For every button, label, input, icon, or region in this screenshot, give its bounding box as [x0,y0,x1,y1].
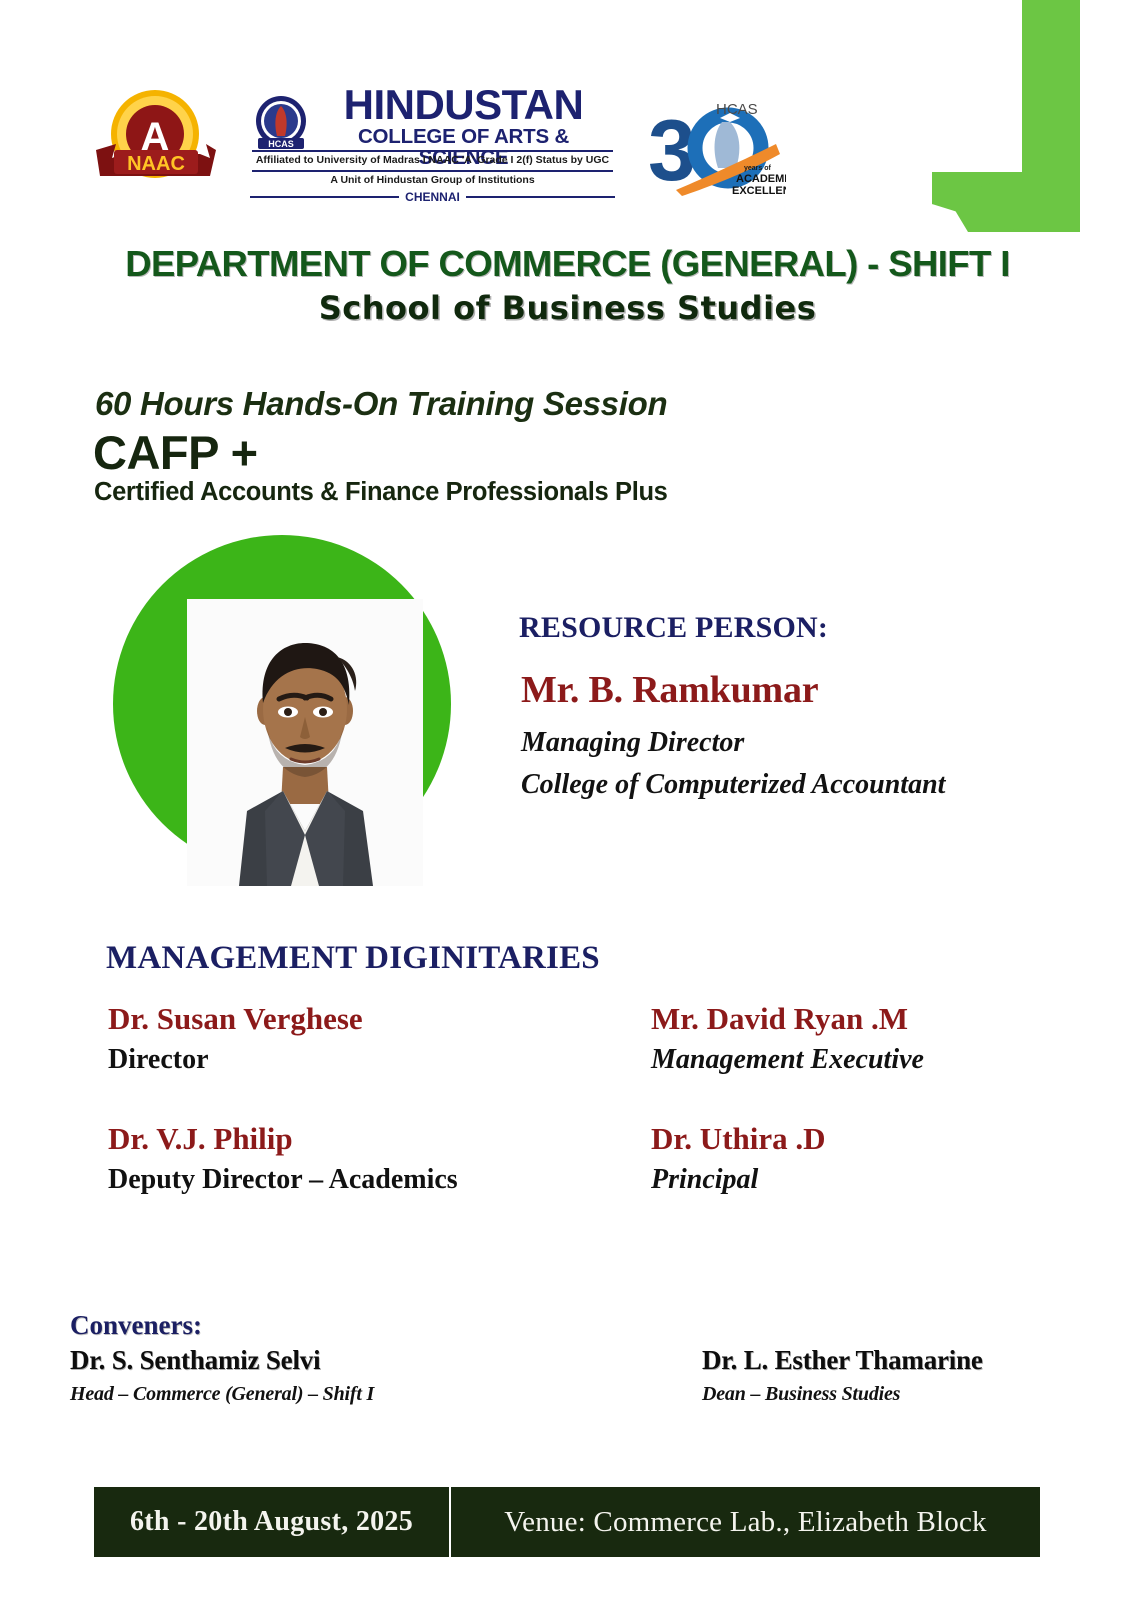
dignitary-name: Mr. David Ryan .M [651,1000,1091,1039]
svg-text:HCAS: HCAS [268,139,294,149]
dignitary-item: Mr. David Ryan .M Management Executive [651,1000,1091,1078]
dignitary-item: Dr. Susan Verghese Director [108,1000,608,1078]
dignitaries-column-right: Mr. David Ryan .M Management Executive D… [651,1000,1091,1240]
school-title: School of Business Studies [0,289,1135,327]
conveners-label: Conveners: [70,1310,202,1341]
dignitary-role: Principal [651,1162,1091,1198]
city-rule-right [466,196,615,198]
dignitary-name: Dr. Uthira .D [651,1120,1091,1159]
resource-person-photo [187,599,423,886]
resource-person-role: Managing Director [521,727,744,759]
svg-text:HCAS: HCAS [716,101,758,118]
svg-text:ACADEMIC: ACADEMIC [736,173,786,185]
resource-person-name: Mr. B. Ramkumar [521,668,818,712]
avatar [187,599,423,886]
convener-role: Head – Commerce (General) – Shift I [70,1383,374,1406]
dignitaries-heading: MANAGEMENT DIGINITARIES [106,940,600,977]
course-full-name: Certified Accounts & Finance Professiona… [94,478,668,507]
college-city-row: CHENNAI [250,190,615,204]
college-logo-block: HCAS HINDUSTAN COLLEGE OF ARTS & SCIENCE… [250,82,615,207]
convener-left: Dr. S. Senthamiz Selvi Head – Commerce (… [70,1345,374,1406]
event-venue: Venue: Commerce Lab., Elizabeth Block [451,1506,1040,1539]
dignitary-item: Dr. Uthira .D Principal [651,1120,1091,1198]
college-unit-line: A Unit of Hindustan Group of Institution… [250,174,615,186]
college-affiliation: Affiliated to University of Madras I NAA… [250,154,615,166]
naac-accreditation-icon: A NAAC [88,84,222,190]
college-city: CHENNAI [399,190,466,204]
convener-name: Dr. S. Senthamiz Selvi [70,1345,374,1376]
dignitary-item: Dr. V.J. Philip Deputy Director – Academ… [108,1120,608,1198]
event-dates: 6th - 20th August, 2025 [94,1506,449,1538]
dignitaries-column-left: Dr. Susan Verghese Director Dr. V.J. Phi… [108,1000,608,1240]
dignitary-name: Dr. V.J. Philip [108,1120,608,1159]
college-rule-top [252,150,613,152]
svg-text:EXCELLENCE: EXCELLENCE [732,185,786,197]
footer-banner: 6th - 20th August, 2025 Venue: Commerce … [94,1487,1040,1557]
course-hours-label: 60 Hours Hands-On Training Session [95,385,667,423]
dignitary-name: Dr. Susan Verghese [108,1000,608,1039]
college-emblem-icon: HCAS [250,94,312,156]
department-title: DEPARTMENT OF COMMERCE (GENERAL) - SHIFT… [0,243,1135,285]
dignitary-role: Management Executive [651,1042,1091,1078]
poster-canvas: A NAAC HCAS HINDUSTAN COLLEGE OF ARTS & … [0,0,1135,1600]
dignitary-role: Director [108,1042,608,1078]
convener-right: Dr. L. Esther Thamarine Dean – Business … [702,1345,983,1406]
convener-role: Dean – Business Studies [702,1383,983,1406]
svg-text:years of: years of [744,165,772,172]
resource-person-organization: College of Computerized Accountant [521,769,945,801]
college-rule-mid [252,170,613,172]
dignitary-role: Deputy Director – Academics [108,1162,608,1198]
svg-text:NAAC: NAAC [127,153,185,175]
convener-name: Dr. L. Esther Thamarine [702,1345,983,1376]
header-logo-strip: A NAAC HCAS HINDUSTAN COLLEGE OF ARTS & … [0,70,1135,220]
thirty-years-anniversary-icon: 3 HCAS years of ACADEMIC EXCELLENCE [640,84,786,204]
course-code: CAFP + [93,425,258,480]
city-rule-left [250,196,399,198]
college-name-line1: HINDUSTAN [312,84,615,126]
resource-person-label: RESOURCE PERSON: [519,611,828,645]
